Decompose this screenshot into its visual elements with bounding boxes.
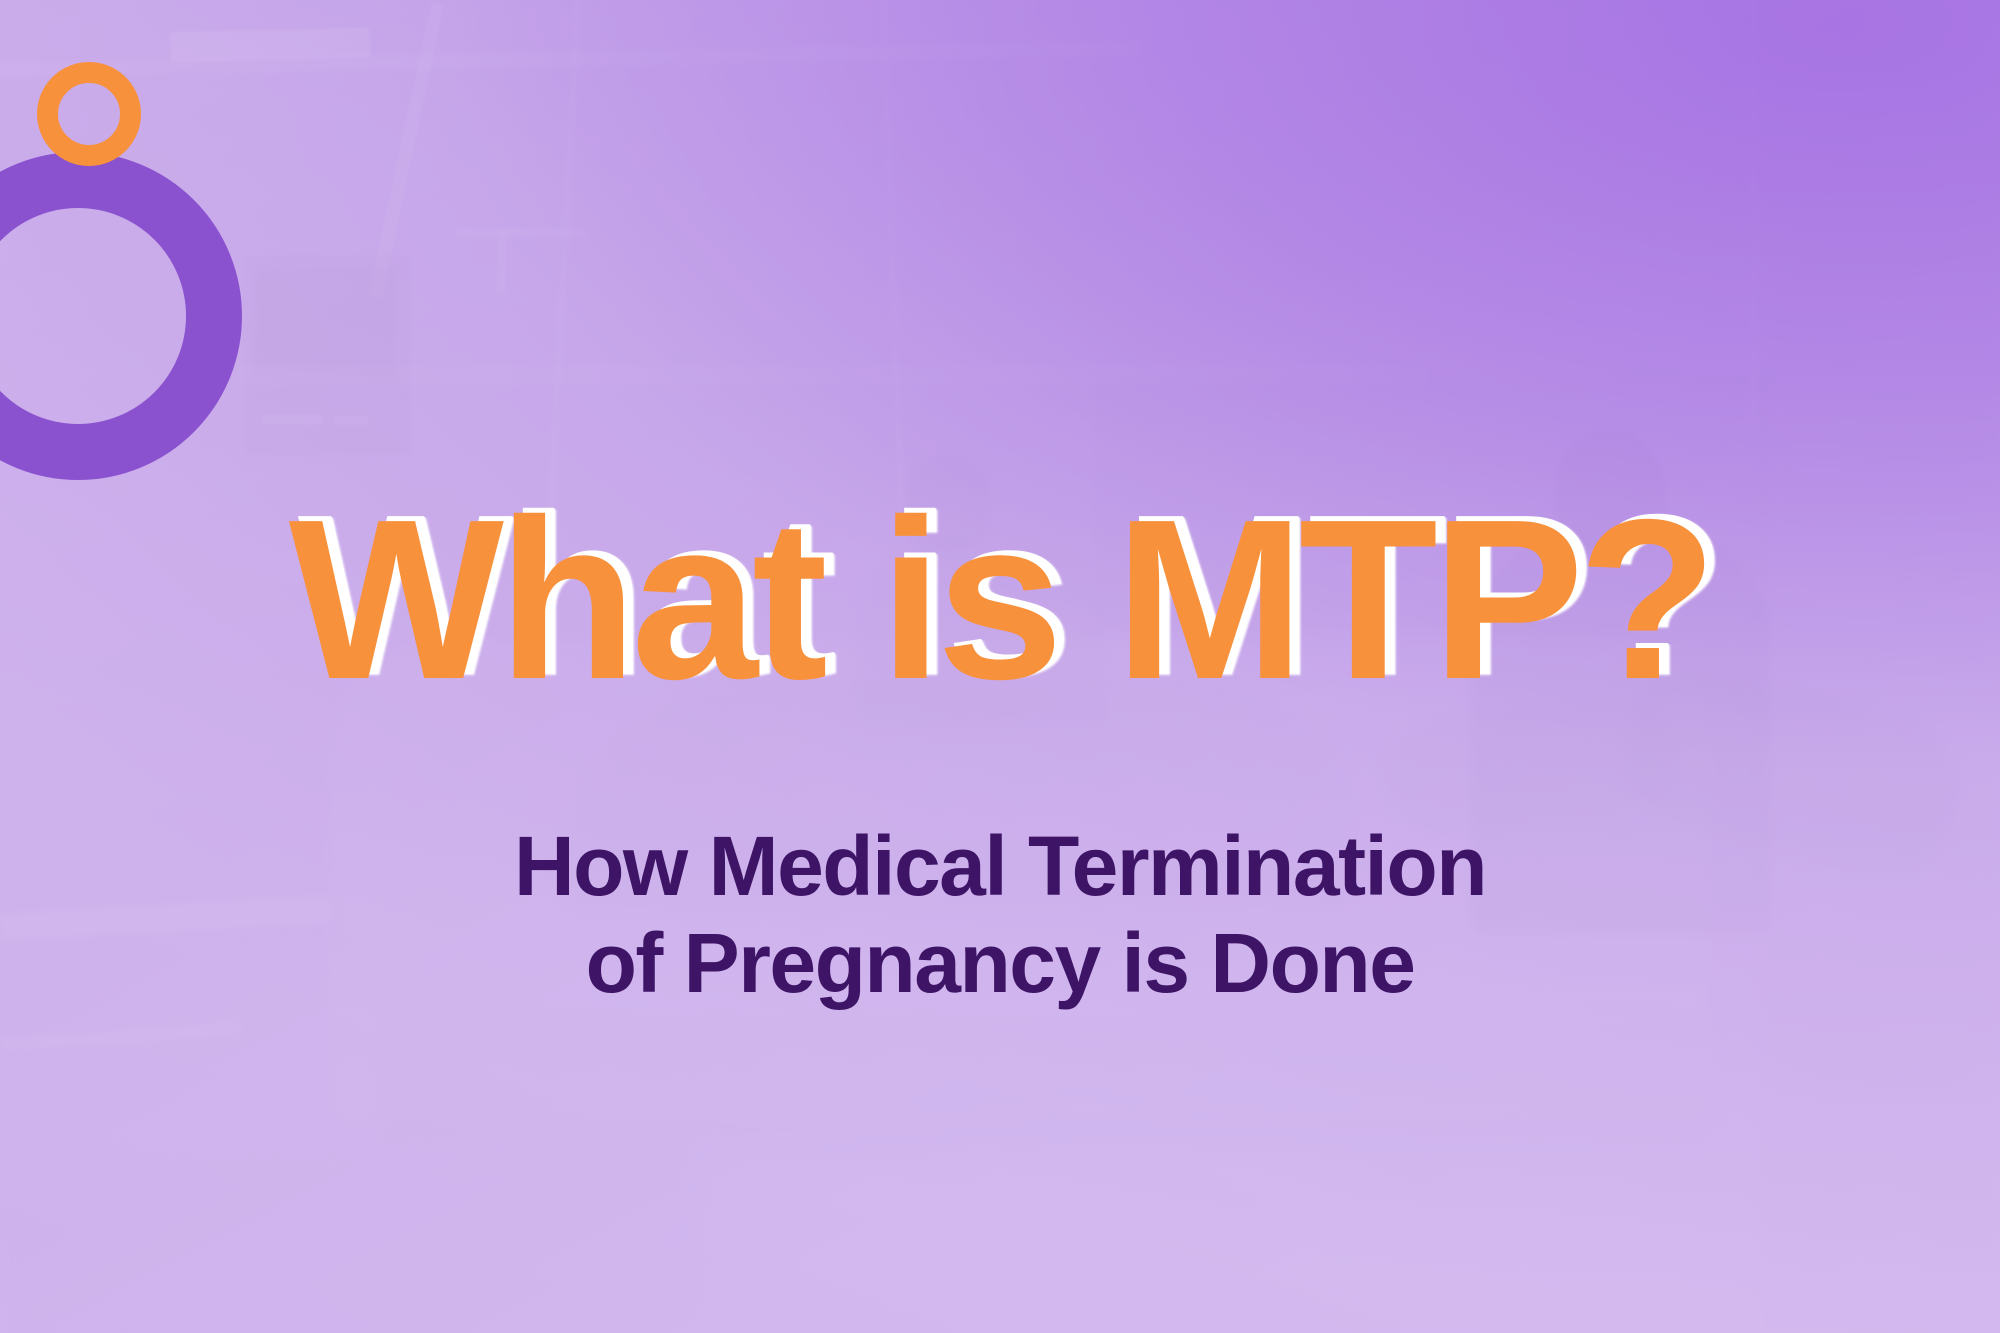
banner-card: What is MTP? How Medical Termination of … (0, 0, 2000, 1333)
banner-subtitle-line-1: How Medical Termination (0, 818, 2000, 915)
banner-subtitle-line-2: of Pregnancy is Done (0, 915, 2000, 1012)
banner-text-block: What is MTP? How Medical Termination of … (0, 0, 2000, 1333)
banner-subtitle: How Medical Termination of Pregnancy is … (0, 818, 2000, 1013)
banner-headline: What is MTP? (0, 486, 2000, 714)
